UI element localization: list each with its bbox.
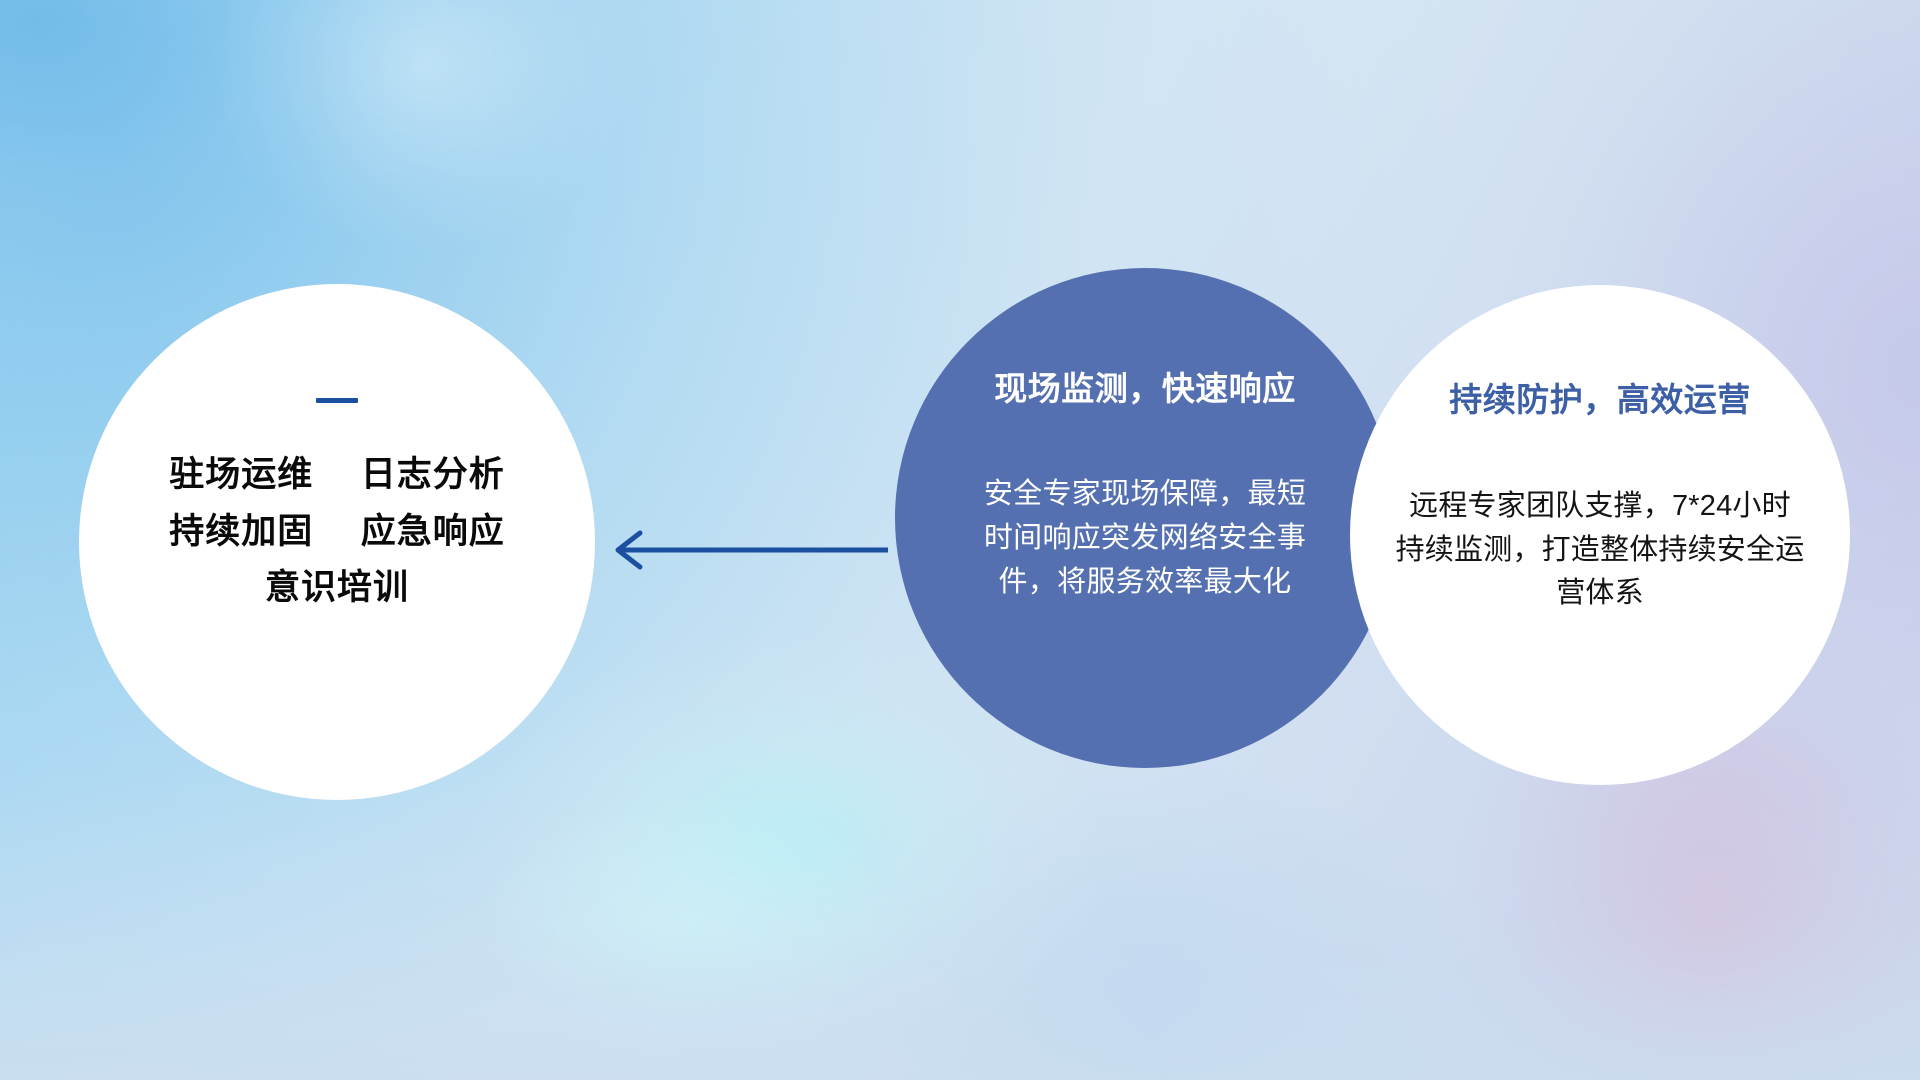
capability-row: 持续加固 应急响应	[169, 504, 505, 561]
capability-label: 持续加固	[169, 512, 313, 551]
onsite-monitoring-body: 安全专家现场保障，最短时间响应突发网络安全事件，将服务效率最大化	[974, 472, 1316, 604]
continuous-protection-circle[interactable]: 持续防护，高效运营 远程专家团队支撑，7*24小时持续监测，打造整体持续安全运营…	[1350, 285, 1850, 785]
capabilities-content: 驻场运维 日志分析 持续加固 应急响应 意识培训	[79, 284, 595, 800]
slide-canvas: 驻场运维 日志分析 持续加固 应急响应 意识培训 现场监测，快速响应 安全专家现…	[0, 0, 1920, 1080]
continuous-protection-body: 远程专家团队支撑，7*24小时持续监测，打造整体持续安全运营体系	[1395, 485, 1805, 616]
capability-row: 驻场运维 日志分析	[169, 447, 505, 504]
onsite-monitoring-title: 现场监测，快速响应	[994, 362, 1296, 410]
divider-dash-icon	[316, 398, 358, 403]
capability-label: 日志分析	[361, 455, 505, 494]
onsite-monitoring-content: 现场监测，快速响应 安全专家现场保障，最短时间响应突发网络安全事件，将服务效率最…	[895, 268, 1395, 768]
capabilities-circle[interactable]: 驻场运维 日志分析 持续加固 应急响应 意识培训	[79, 284, 595, 800]
capability-label: 应急响应	[361, 512, 505, 551]
capability-label: 意识培训	[265, 568, 409, 607]
continuous-protection-content: 持续防护，高效运营 远程专家团队支撑，7*24小时持续监测，打造整体持续安全运营…	[1350, 285, 1850, 785]
capability-label: 驻场运维	[169, 455, 313, 494]
capability-row: 意识培训	[265, 560, 409, 617]
continuous-protection-title: 持续防护，高效运营	[1449, 373, 1751, 421]
flow-arrow-left-icon	[600, 520, 890, 580]
onsite-monitoring-circle[interactable]: 现场监测，快速响应 安全专家现场保障，最短时间响应突发网络安全事件，将服务效率最…	[895, 268, 1395, 768]
